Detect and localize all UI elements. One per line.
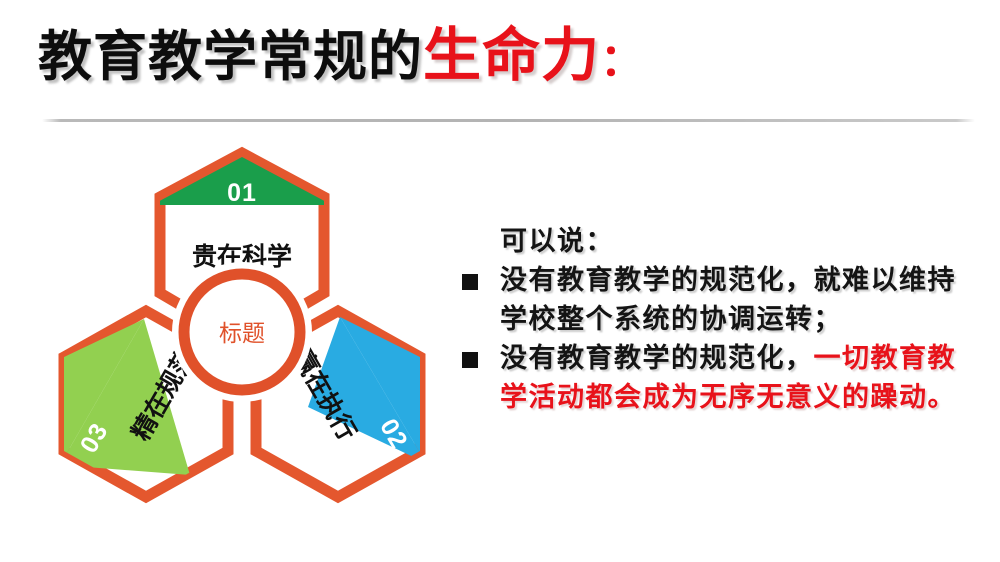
hexagon-01-number: 01: [227, 179, 257, 207]
body-text-block: 可以说： 没有教育教学的规范化，就难以维持 学校整个系统的协调运转； 没有教育教…: [460, 222, 990, 417]
title-divider: [42, 119, 975, 122]
bullet-2-line-1-accent: 一切教育教: [814, 343, 957, 373]
diagram-center-node[interactable]: 标题: [182, 272, 302, 392]
bullet-1-line-2-row: 学校整个系统的协调运转；: [460, 300, 990, 339]
bullet-2-line-2: 学活动都会成为无序无意义的躁动。: [500, 382, 956, 412]
bullet-item-1: 没有教育教学的规范化，就难以维持: [460, 261, 990, 300]
slide-canvas: 教育教学常规的生命力：: [0, 0, 1000, 562]
center-circle-label: 标题: [219, 321, 265, 346]
body-lead-line: 可以说：: [460, 222, 990, 261]
bullet-2-line-2-row: 学活动都会成为无序无意义的躁动。: [460, 378, 990, 417]
square-bullet-icon: [462, 352, 478, 368]
bullet-2-line-1: 没有教育教学的规范化，: [500, 343, 814, 373]
bullet-1-line-1: 没有教育教学的规范化，就难以维持: [500, 265, 956, 295]
diagram-svg: 01 贵在科学 02 赢在执行 03: [40, 145, 460, 505]
page-title-accent: 生命力: [423, 23, 600, 88]
three-part-hexagon-diagram: 01 贵在科学 02 赢在执行 03: [40, 145, 460, 505]
bullet-1-line-2: 学校整个系统的协调运转；: [500, 304, 842, 334]
page-title: 教育教学常规的生命力：: [38, 22, 978, 98]
page-title-colon: ：: [600, 36, 645, 85]
square-bullet-icon: [462, 274, 478, 290]
bullet-item-2: 没有教育教学的规范化，一切教育教: [460, 339, 990, 378]
page-title-main: 教育教学常规的: [38, 27, 423, 87]
